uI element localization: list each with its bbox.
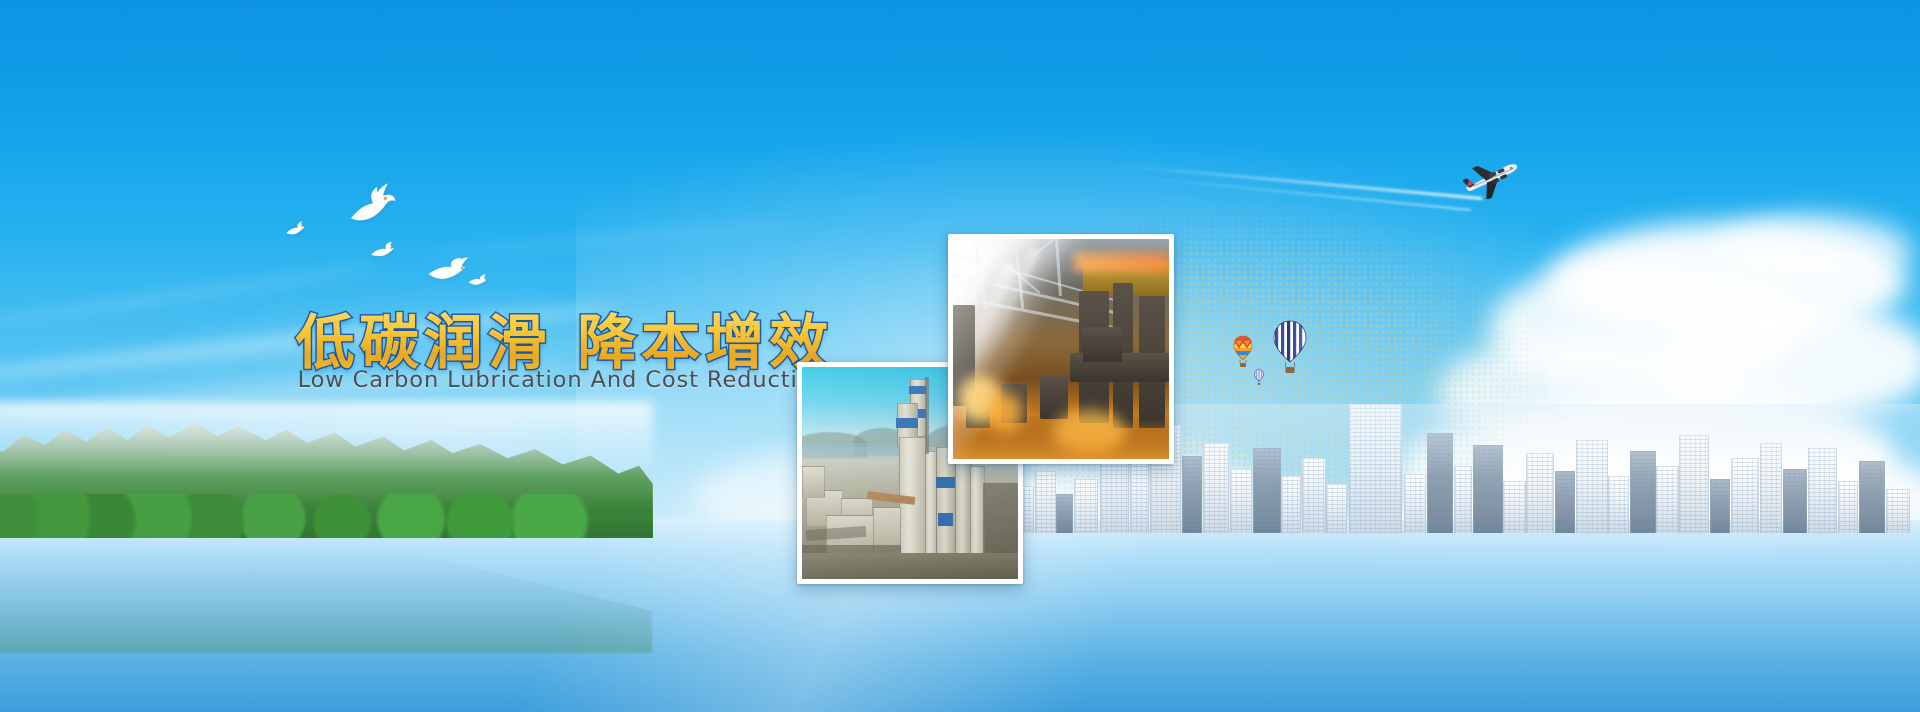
hot-air-balloon-orange	[1233, 335, 1253, 369]
photo-card-steel-mill[interactable]	[948, 234, 1174, 464]
mountain-island	[0, 409, 653, 537]
hero-banner: 低碳润滑 降本增效 低碳润滑 降本增效 Low Carbon Lubricati…	[0, 0, 1920, 712]
hot-air-balloon-striped	[1273, 320, 1307, 376]
hot-air-balloon-small	[1254, 369, 1264, 387]
dove-icon	[425, 255, 470, 288]
page-subtitle: Low Carbon Lubrication And Cost Reductio…	[298, 367, 828, 393]
dove-icon	[283, 220, 307, 239]
steel-mill-photo	[953, 239, 1169, 459]
airplane-icon	[1463, 153, 1525, 199]
dove-icon	[368, 240, 396, 261]
